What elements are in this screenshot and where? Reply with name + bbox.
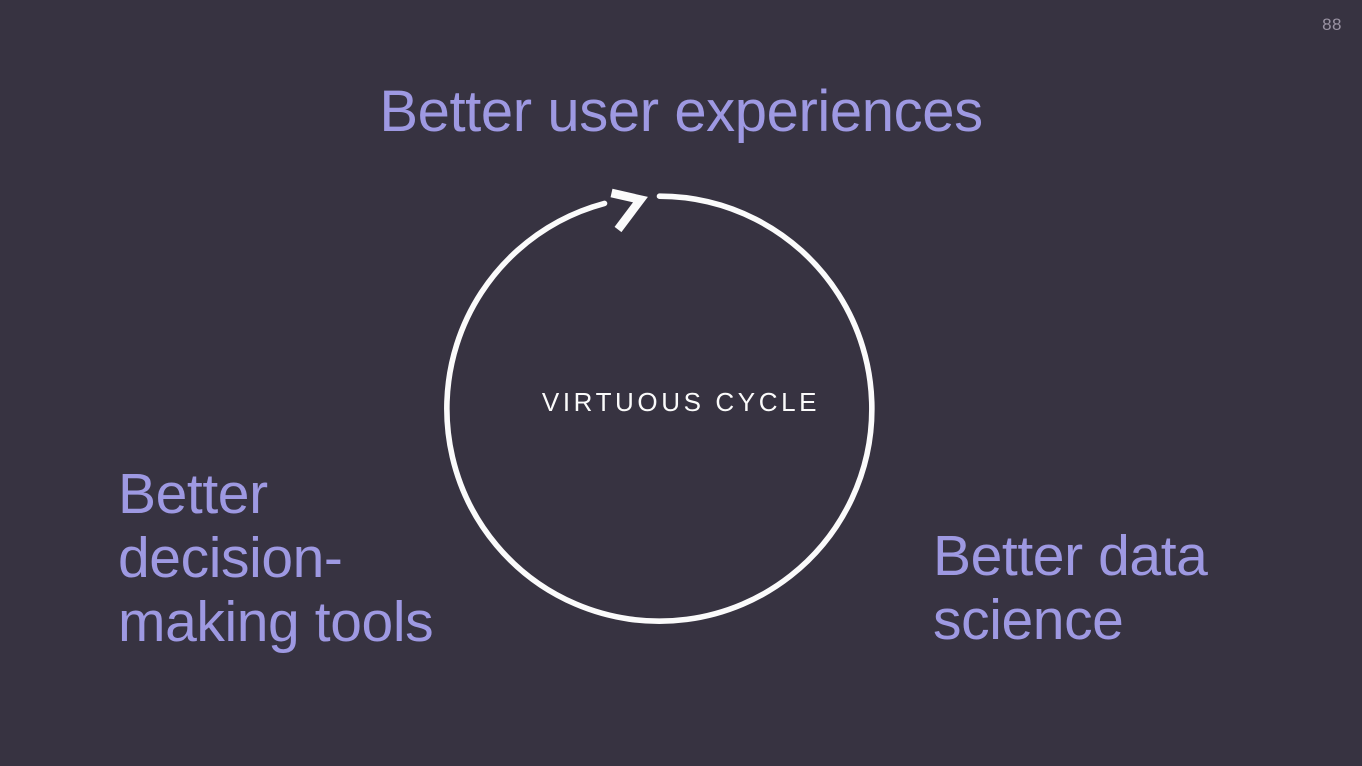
node-label-top: Better user experiences	[0, 80, 1362, 145]
cycle-center-caption: VIRTUOUS CYCLE	[0, 389, 1362, 415]
node-label-right: Better data science	[933, 524, 1207, 652]
slide-canvas: 88 Better user experiences Better decisi…	[0, 0, 1362, 766]
page-number: 88	[1322, 16, 1342, 33]
node-label-left: Better decision- making tools	[118, 462, 433, 654]
